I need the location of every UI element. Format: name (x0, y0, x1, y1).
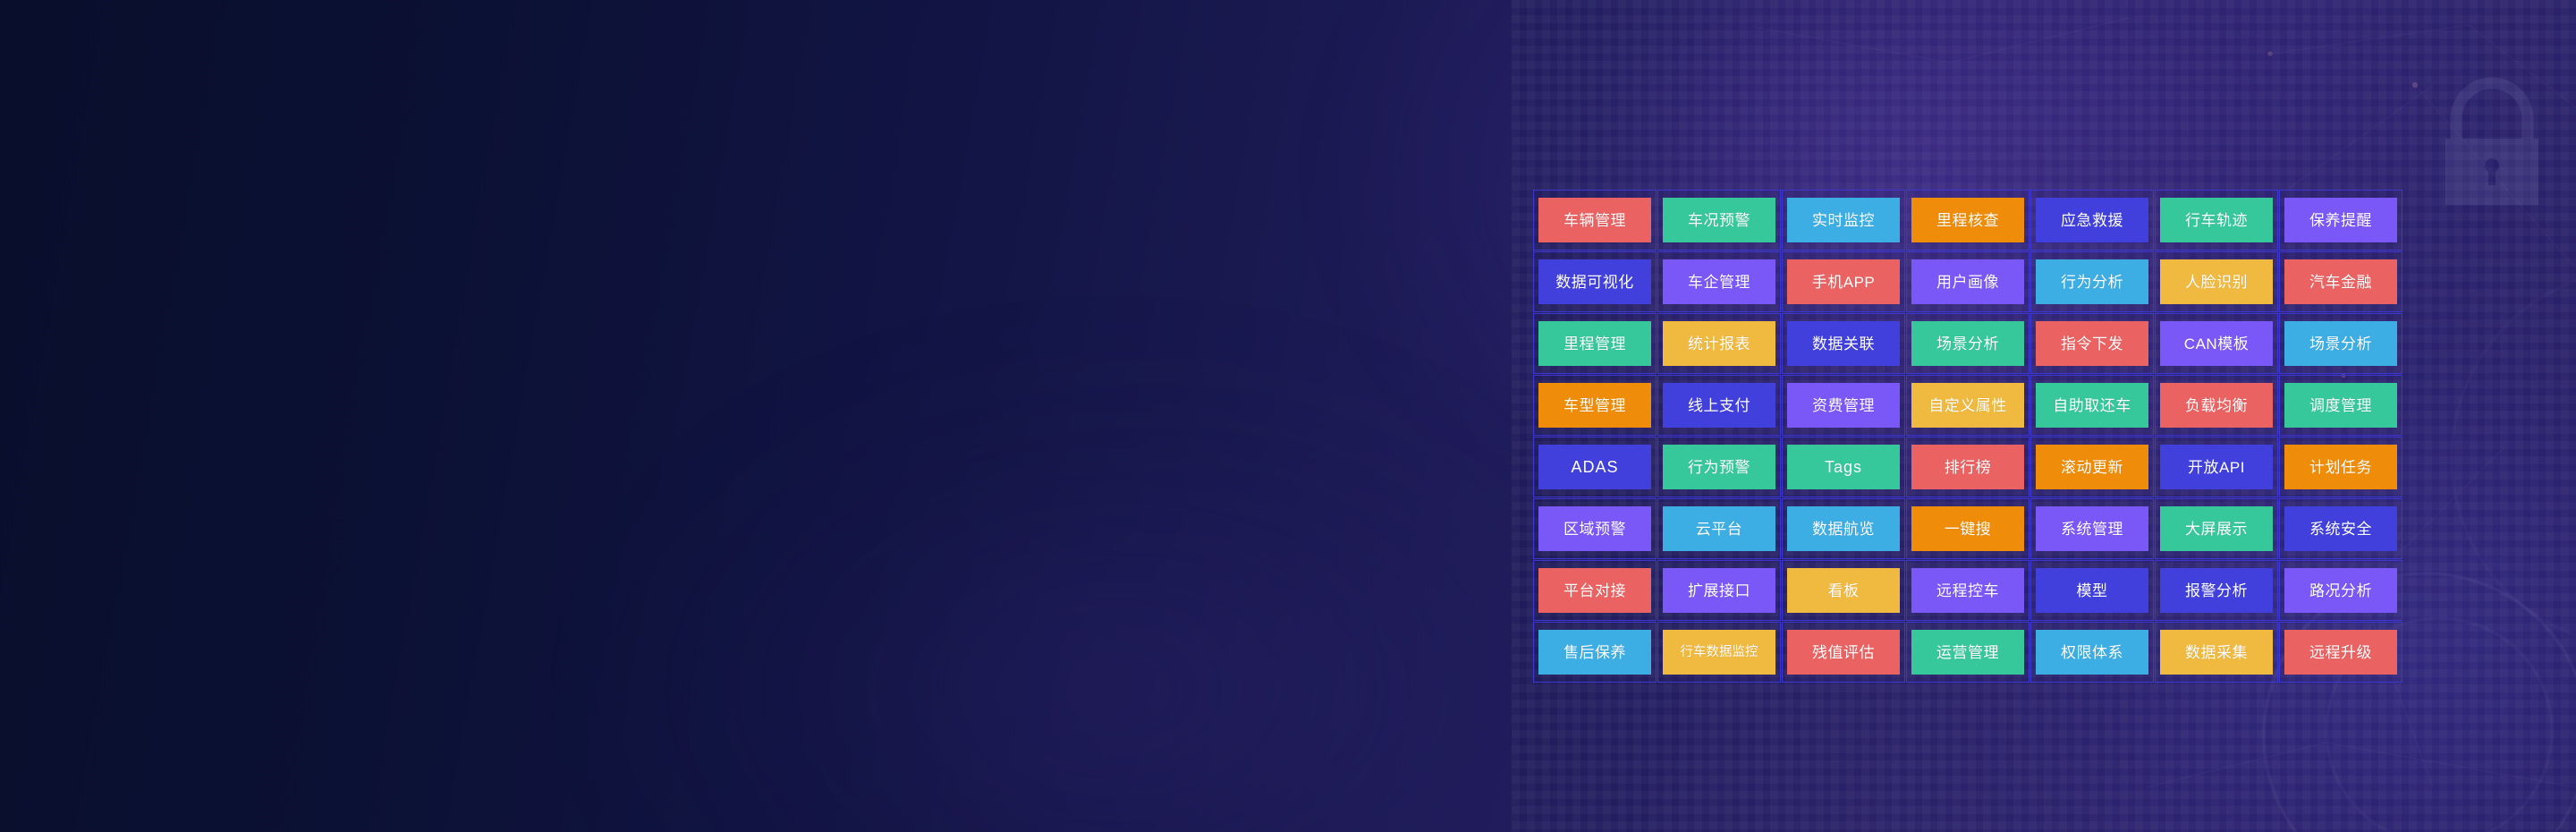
feature-tile[interactable]: 人脸识别 (2155, 251, 2278, 312)
feature-tile[interactable]: 统计报表 (1657, 313, 1781, 374)
feature-tile[interactable]: 资费管理 (1782, 375, 1905, 436)
tile-label: 用户画像 (1936, 275, 1999, 290)
tile-fill: 线上支付 (1663, 383, 1775, 428)
feature-tile[interactable]: Tags (1782, 437, 1905, 497)
tile-label: 滚动更新 (2061, 460, 2123, 475)
tile-label: 手机APP (1812, 275, 1876, 290)
feature-tile[interactable]: 平台对接 (1533, 560, 1657, 621)
tile-label: 里程核查 (1936, 213, 1999, 228)
tile-label: 自定义属性 (1928, 398, 2007, 413)
tile-label: 保养提醒 (2309, 213, 2372, 228)
tile-fill: 场景分析 (1911, 321, 2024, 366)
tile-fill: 看板 (1787, 568, 1900, 613)
feature-tile[interactable]: 权限体系 (2030, 622, 2154, 683)
feature-tile[interactable]: 远程升级 (2279, 622, 2402, 683)
tile-fill: 车企管理 (1663, 259, 1775, 304)
feature-tile[interactable]: 看板 (1782, 560, 1905, 621)
tile-fill: 里程管理 (1538, 321, 1651, 366)
tile-fill: 自定义属性 (1911, 383, 2024, 428)
feature-tile[interactable]: 残值评估 (1782, 622, 1905, 683)
tile-label: 统计报表 (1688, 336, 1750, 352)
feature-tile[interactable]: 汽车金融 (2279, 251, 2402, 312)
tile-label: 远程升级 (2309, 645, 2372, 660)
tile-fill: ADAS (1538, 445, 1651, 489)
tile-fill: 权限体系 (2036, 630, 2148, 675)
tile-fill: 大屏展示 (2160, 506, 2273, 551)
tile-fill: 远程升级 (2284, 630, 2397, 675)
tile-fill: 手机APP (1787, 259, 1900, 304)
tile-fill: 售后保养 (1538, 630, 1651, 675)
tile-label: 行为预警 (1688, 460, 1750, 475)
tile-fill: 排行榜 (1911, 445, 2024, 489)
feature-tile[interactable]: 车型管理 (1533, 375, 1657, 436)
feature-tile[interactable]: 里程核查 (1906, 190, 2029, 250)
tile-label: 里程管理 (1563, 336, 1626, 352)
tile-label: 应急救援 (2061, 213, 2123, 228)
feature-tile[interactable]: 数据航览 (1782, 498, 1905, 559)
tile-label: 调度管理 (2309, 398, 2372, 413)
feature-tile[interactable]: 车辆管理 (1533, 190, 1657, 250)
tile-fill: 区域预警 (1538, 506, 1651, 551)
feature-tile[interactable]: 调度管理 (2279, 375, 2402, 436)
tile-label: 行为分析 (2061, 275, 2123, 290)
feature-tile[interactable]: 系统安全 (2279, 498, 2402, 559)
tile-label: 场景分析 (1936, 336, 1999, 352)
background-glow-center (626, 376, 1610, 832)
feature-tile[interactable]: 自定义属性 (1906, 375, 2029, 436)
feature-tile[interactable]: 行车数据监控 (1657, 622, 1781, 683)
tile-label: 汽车金融 (2309, 275, 2372, 290)
tile-fill: 扩展接口 (1663, 568, 1775, 613)
tile-fill: 统计报表 (1663, 321, 1775, 366)
tile-fill: 数据可视化 (1538, 259, 1651, 304)
tile-label: 区域预警 (1563, 522, 1626, 537)
screen-stage: 车辆管理车况预警实时监控里程核查应急救援行车轨迹保养提醒数据可视化车企管理手机A… (0, 0, 2576, 832)
feature-tile[interactable]: 里程管理 (1533, 313, 1657, 374)
tile-label: 数据可视化 (1555, 275, 1634, 290)
tile-label: 数据航览 (1812, 522, 1875, 537)
tile-label: 场景分析 (2309, 336, 2372, 352)
feature-tile[interactable]: 系统管理 (2030, 498, 2154, 559)
tile-label: 数据采集 (2185, 645, 2248, 660)
tile-label: 指令下发 (2061, 336, 2123, 352)
tile-fill: 路况分析 (2284, 568, 2397, 613)
tile-label: 权限体系 (2061, 645, 2123, 660)
feature-tile[interactable]: 车企管理 (1657, 251, 1781, 312)
feature-tile[interactable]: 报警分析 (2155, 560, 2278, 621)
feature-tile[interactable]: 行为预警 (1657, 437, 1781, 497)
tile-label: 资费管理 (1812, 398, 1875, 413)
tile-label: 售后保养 (1563, 645, 1626, 660)
tile-fill: 车况预警 (1663, 198, 1775, 242)
tile-label: 运营管理 (1936, 645, 1999, 660)
tile-label: 远程控车 (1936, 583, 1999, 599)
tile-fill: 应急救援 (2036, 198, 2148, 242)
feature-tile[interactable]: ADAS (1533, 437, 1657, 497)
feature-tile[interactable]: 行车轨迹 (2155, 190, 2278, 250)
feature-tile[interactable]: 行为分析 (2030, 251, 2154, 312)
tile-label: 行车数据监控 (1681, 646, 1758, 659)
tile-fill: 行车轨迹 (2160, 198, 2273, 242)
tile-label: 实时监控 (1812, 213, 1875, 228)
tile-label: 自助取还车 (2053, 398, 2131, 413)
tile-label: 系统安全 (2309, 522, 2372, 537)
tile-fill: 计划任务 (2284, 445, 2397, 489)
tile-fill: 实时监控 (1787, 198, 1900, 242)
tile-fill: 开放API (2160, 445, 2273, 489)
tile-fill: 滚动更新 (2036, 445, 2148, 489)
feature-tile[interactable]: CAN模板 (2155, 313, 2278, 374)
tile-fill: 数据航览 (1787, 506, 1900, 551)
tile-label: 残值评估 (1812, 645, 1875, 660)
tile-label: 看板 (1828, 583, 1860, 599)
feature-tile[interactable]: 线上支付 (1657, 375, 1781, 436)
feature-tile[interactable]: 数据关联 (1782, 313, 1905, 374)
tile-label: 车况预警 (1688, 213, 1750, 228)
tile-label: 报警分析 (2185, 583, 2248, 599)
tile-label: 模型 (2077, 583, 2108, 599)
tile-fill: 系统管理 (2036, 506, 2148, 551)
tile-fill: 行为预警 (1663, 445, 1775, 489)
tile-label: 数据关联 (1812, 336, 1875, 352)
feature-tile[interactable]: 云平台 (1657, 498, 1781, 559)
tile-label: 云平台 (1696, 522, 1743, 537)
feature-tile[interactable]: 运营管理 (1906, 622, 2029, 683)
feature-tile[interactable]: 应急救援 (2030, 190, 2154, 250)
feature-tile[interactable]: 场景分析 (2279, 313, 2402, 374)
tile-fill: 指令下发 (2036, 321, 2148, 366)
tile-label: 行车轨迹 (2185, 213, 2248, 228)
feature-tile[interactable]: 滚动更新 (2030, 437, 2154, 497)
tile-label: 路况分析 (2309, 583, 2372, 599)
tile-fill: 汽车金融 (2284, 259, 2397, 304)
tile-fill: 调度管理 (2284, 383, 2397, 428)
tile-fill: 人脸识别 (2160, 259, 2273, 304)
tile-fill: 场景分析 (2284, 321, 2397, 366)
tile-label: 系统管理 (2061, 522, 2123, 537)
tile-fill: 行车数据监控 (1663, 630, 1775, 675)
tile-label: 负载均衡 (2185, 398, 2248, 413)
feature-tile[interactable]: 用户画像 (1906, 251, 2029, 312)
tile-fill: 车型管理 (1538, 383, 1651, 428)
tile-fill: 系统安全 (2284, 506, 2397, 551)
feature-tile[interactable]: 路况分析 (2279, 560, 2402, 621)
feature-tile[interactable]: 数据可视化 (1533, 251, 1657, 312)
feature-tile[interactable]: 场景分析 (1906, 313, 2029, 374)
tile-label: 人脸识别 (2185, 275, 2248, 290)
feature-tile[interactable]: 开放API (2155, 437, 2278, 497)
tile-fill: 保养提醒 (2284, 198, 2397, 242)
feature-tile[interactable]: 售后保养 (1533, 622, 1657, 683)
tile-fill: 云平台 (1663, 506, 1775, 551)
feature-tile[interactable]: 模型 (2030, 560, 2154, 621)
feature-tile[interactable]: 区域预警 (1533, 498, 1657, 559)
tile-fill: 报警分析 (2160, 568, 2273, 613)
tile-label: 大屏展示 (2185, 522, 2248, 537)
feature-tile[interactable]: 车况预警 (1657, 190, 1781, 250)
tile-fill: 车辆管理 (1538, 198, 1651, 242)
tile-fill: 模型 (2036, 568, 2148, 613)
tile-fill: 数据采集 (2160, 630, 2273, 675)
tile-fill: 平台对接 (1538, 568, 1651, 613)
feature-tile-grid[interactable]: 车辆管理车况预警实时监控里程核查应急救援行车轨迹保养提醒数据可视化车企管理手机A… (1533, 190, 2402, 683)
tile-label: ADAS (1571, 459, 1618, 475)
tile-label: 车型管理 (1563, 398, 1626, 413)
feature-tile[interactable]: 实时监控 (1782, 190, 1905, 250)
feature-tile[interactable]: 指令下发 (2030, 313, 2154, 374)
tile-fill: 残值评估 (1787, 630, 1900, 675)
feature-tile[interactable]: 一键搜 (1906, 498, 2029, 559)
feature-tile[interactable]: 远程控车 (1906, 560, 2029, 621)
tile-label: 扩展接口 (1688, 583, 1750, 599)
tile-fill: 远程控车 (1911, 568, 2024, 613)
tile-label: 计划任务 (2309, 460, 2372, 475)
feature-tile[interactable]: 数据采集 (2155, 622, 2278, 683)
tile-label: 车企管理 (1688, 275, 1750, 290)
feature-tile[interactable]: 大屏展示 (2155, 498, 2278, 559)
tile-fill: 行为分析 (2036, 259, 2148, 304)
tile-fill: 里程核查 (1911, 198, 2024, 242)
tile-label: 一键搜 (1945, 522, 1992, 537)
tile-fill: 负载均衡 (2160, 383, 2273, 428)
tile-fill: 自助取还车 (2036, 383, 2148, 428)
tile-label: 车辆管理 (1563, 213, 1626, 228)
feature-tile[interactable]: 计划任务 (2279, 437, 2402, 497)
tile-fill: 资费管理 (1787, 383, 1900, 428)
tile-label: 排行榜 (1945, 460, 1992, 475)
padlock-icon (2429, 76, 2555, 210)
tile-fill: 用户画像 (1911, 259, 2024, 304)
feature-tile[interactable]: 负载均衡 (2155, 375, 2278, 436)
tile-label: 开放API (2188, 460, 2245, 475)
tile-fill: 数据关联 (1787, 321, 1900, 366)
feature-tile[interactable]: 自助取还车 (2030, 375, 2154, 436)
tile-label: CAN模板 (2184, 336, 2249, 352)
tile-fill: 运营管理 (1911, 630, 2024, 675)
tile-fill: 一键搜 (1911, 506, 2024, 551)
feature-tile[interactable]: 扩展接口 (1657, 560, 1781, 621)
feature-tile[interactable]: 手机APP (1782, 251, 1905, 312)
tile-fill: CAN模板 (2160, 321, 2273, 366)
tile-label: Tags (1825, 459, 1862, 475)
background-arc-3 (2451, 268, 2576, 648)
feature-tile[interactable]: 排行榜 (1906, 437, 2029, 497)
tile-label: 平台对接 (1563, 583, 1626, 599)
feature-tile[interactable]: 保养提醒 (2279, 190, 2402, 250)
tile-fill: Tags (1787, 445, 1900, 489)
tile-label: 线上支付 (1688, 398, 1750, 413)
